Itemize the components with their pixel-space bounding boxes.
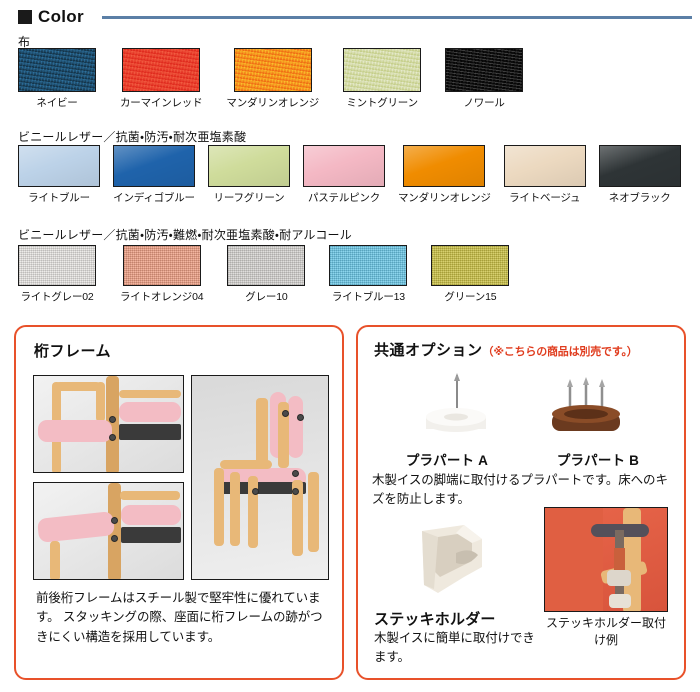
- frame-panel-caption: 前後桁フレームはスチール製で堅牢性に優れています。 スタッキングの際、座面に桁フ…: [36, 589, 328, 647]
- swatch-color: [18, 145, 100, 187]
- swatch-label: ライトベージュ: [509, 190, 580, 205]
- swatch-row-fabric: ネイビー カーマインレッド マンダリンオレンジ ミントグリーン ノワール: [18, 48, 523, 110]
- swatch-label: マンダリンオレンジ: [226, 95, 319, 110]
- filled-square-icon: [18, 10, 32, 24]
- section-label-vinyl: ビニールレザー／抗菌・防汚・耐次亜塩素酸: [18, 128, 246, 145]
- swatch-label: ミントグリーン: [346, 95, 418, 110]
- swatch-label: ノワール: [464, 95, 505, 110]
- swatch-cell[interactable]: カーマインレッド: [120, 48, 202, 110]
- swatch-color: [234, 48, 312, 92]
- frame-panel: 桁フレーム: [14, 325, 344, 680]
- header-rule: [102, 16, 692, 19]
- swatch-cell[interactable]: ライトブルー13: [329, 245, 407, 304]
- swatch-color: [343, 48, 421, 92]
- swatch-cell[interactable]: ノワール: [445, 48, 523, 110]
- swatch-color: [227, 245, 305, 286]
- swatch-color: [18, 245, 96, 286]
- options-panel-note: （※こちらの商品は別売です。）: [483, 343, 638, 359]
- swatch-cell[interactable]: パステルピンク: [303, 145, 385, 205]
- frame-closeup-bottom-photo: [33, 482, 184, 580]
- swatch-color: [431, 245, 509, 286]
- stacking-chairs-photo: [191, 375, 329, 580]
- plapart-names-row: プラパート A プラパート B: [372, 449, 674, 469]
- swatch-color: [18, 48, 96, 92]
- swatch-color: [208, 145, 290, 187]
- plapart-b-label: プラパート B: [522, 449, 674, 469]
- plapart-a-label: プラパート A: [372, 449, 522, 469]
- swatch-row-vinyl: ライトブルー インディゴブルー リーフグリーン パステルピンク マンダリンオレン…: [18, 145, 681, 205]
- swatch-color: [445, 48, 523, 92]
- swatch-cell[interactable]: ライトグレー02: [18, 245, 96, 304]
- swatch-label: グレー10: [245, 289, 287, 304]
- swatch-cell[interactable]: インディゴブルー: [113, 145, 195, 205]
- swatch-label: インディゴブルー: [113, 190, 195, 205]
- options-panel-header: 共通オプション （※こちらの商品は別売です。）: [374, 339, 638, 360]
- swatch-cell[interactable]: ライトブルー: [18, 145, 100, 205]
- swatch-color: [123, 245, 201, 286]
- page-header: Color: [0, 2, 700, 32]
- swatch-label: カーマインレッド: [120, 95, 202, 110]
- plapart-a-photo: [400, 371, 512, 443]
- section-label-vinyl-fr: ビニールレザー／抗菌・防汚・難燃・耐次亜塩素酸・耐アルコール: [18, 226, 352, 243]
- swatch-cell[interactable]: ライトベージュ: [504, 145, 586, 205]
- swatch-label: パステルピンク: [308, 190, 380, 205]
- swatch-color: [599, 145, 681, 187]
- swatch-label: ライトグレー02: [20, 289, 93, 304]
- swatch-label: ライトブルー: [28, 190, 90, 205]
- stick-holder-mounted-photo: [544, 507, 668, 612]
- swatch-cell[interactable]: グリーン15: [431, 245, 509, 304]
- options-panel-title: 共通オプション: [374, 339, 483, 360]
- swatch-color: [113, 145, 195, 187]
- swatch-color: [303, 145, 385, 187]
- swatch-label: リーフグリーン: [214, 190, 285, 205]
- swatch-cell[interactable]: マンダリンオレンジ: [226, 48, 319, 110]
- swatch-label: グリーン15: [444, 289, 496, 304]
- options-panel: 共通オプション （※こちらの商品は別売です。） プラパート A プラパー: [356, 325, 686, 680]
- swatch-cell[interactable]: ネイビー: [18, 48, 96, 110]
- swatch-label: ライトオレンジ04: [120, 289, 203, 304]
- swatch-label: ライトブルー13: [332, 289, 405, 304]
- swatch-label: ネオブラック: [609, 190, 671, 205]
- swatch-color: [122, 48, 200, 92]
- swatch-cell[interactable]: ネオブラック: [599, 145, 681, 205]
- plapart-caption: 木製イスの脚端に取付けるプラパートです。床へのキズを防止します。: [372, 471, 678, 509]
- swatch-cell[interactable]: グレー10: [227, 245, 305, 304]
- plapart-b-photo: [530, 371, 642, 443]
- swatch-cell[interactable]: マンダリンオレンジ: [398, 145, 491, 205]
- stick-holder-caption: 木製イスに簡単に取付けできます。: [374, 629, 536, 667]
- swatch-label: ネイビー: [36, 95, 77, 110]
- frame-panel-title: 桁フレーム: [34, 340, 111, 361]
- swatch-label: マンダリンオレンジ: [398, 190, 491, 205]
- swatch-color: [504, 145, 586, 187]
- swatch-cell[interactable]: ライトオレンジ04: [120, 245, 203, 304]
- swatch-cell[interactable]: リーフグリーン: [208, 145, 290, 205]
- swatch-row-vinyl-fr: ライトグレー02 ライトオレンジ04 グレー10 ライトブルー13 グリーン15: [18, 245, 509, 304]
- frame-closeup-top-photo: [33, 375, 184, 473]
- swatch-color: [403, 145, 485, 187]
- swatch-color: [329, 245, 407, 286]
- swatch-cell[interactable]: ミントグリーン: [343, 48, 421, 110]
- stick-holder-photo: [378, 515, 528, 605]
- stick-holder-example-caption: ステッキホルダー取付け例: [544, 615, 668, 650]
- stick-holder-label: ステッキホルダー: [374, 608, 496, 629]
- page-title: Color: [38, 7, 84, 27]
